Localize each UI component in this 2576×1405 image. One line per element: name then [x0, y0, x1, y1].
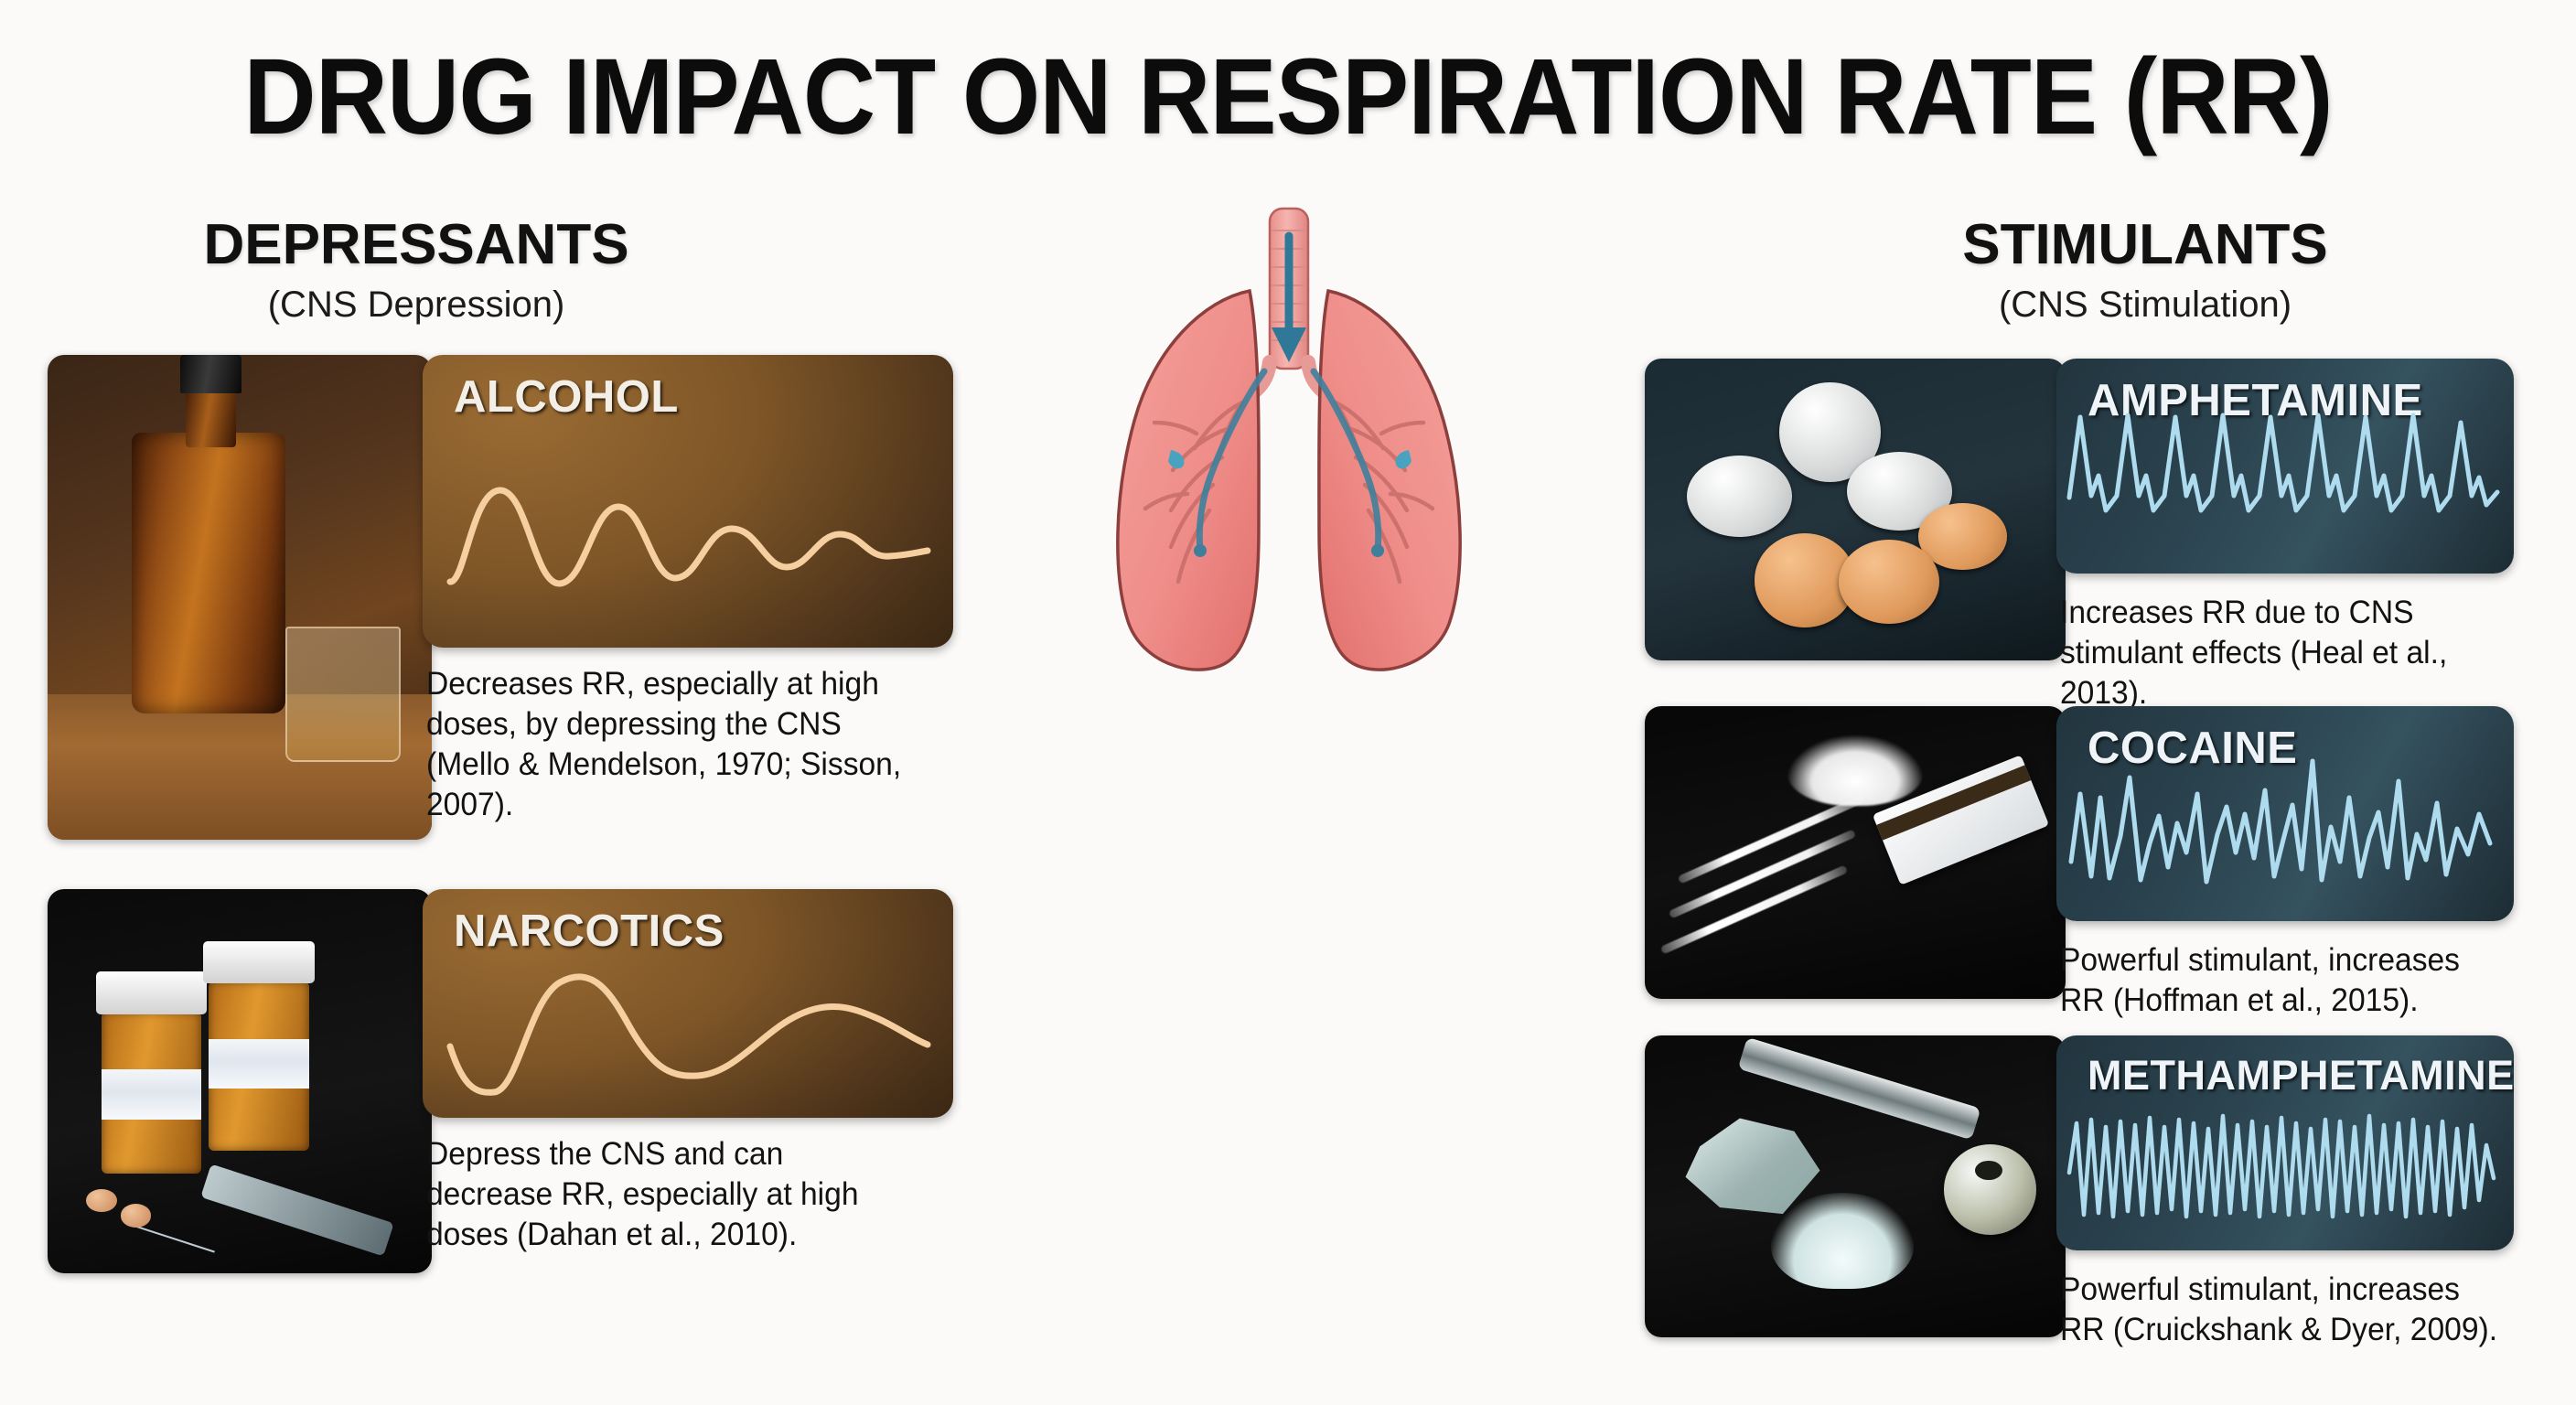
alcohol-waveform-panel: ALCOHOL — [423, 355, 953, 648]
alcohol-photo — [48, 355, 432, 840]
depressants-subheading: (CNS Depression) — [55, 284, 778, 326]
stimulants-heading: STIMULANTS — [1784, 212, 2506, 277]
cocaine-waveform — [2056, 706, 2514, 921]
page-title: DRUG IMPACT ON RESPIRATION RATE (RR) — [91, 35, 2486, 159]
lungs-illustration — [1034, 183, 1583, 695]
stimulants-subheading: (CNS Stimulation) — [1784, 284, 2506, 326]
methamphetamine-waveform-panel: METHAMPHETAMINE — [2056, 1035, 2514, 1250]
depressants-heading: DEPRESSANTS — [55, 212, 778, 277]
alcohol-waveform — [423, 355, 953, 648]
cocaine-photo — [1645, 706, 2066, 999]
narcotics-waveform-panel: NARCOTICS — [423, 889, 953, 1118]
alcohol-description: Decreases RR, especially at high doses, … — [426, 664, 918, 825]
amphetamine-photo — [1645, 359, 2066, 660]
amphetamine-waveform — [2056, 359, 2514, 574]
narcotics-photo — [48, 889, 432, 1273]
column-header-depressants: DEPRESSANTS (CNS Depression) — [55, 212, 778, 326]
amphetamine-waveform-panel: AMPHETAMINE — [2056, 359, 2514, 574]
methamphetamine-description: Powerful stimulant, increases RR (Cruick… — [2060, 1270, 2499, 1350]
methamphetamine-photo — [1645, 1035, 2066, 1337]
infographic-canvas: DRUG IMPACT ON RESPIRATION RATE (RR) DEP… — [0, 0, 2576, 1405]
narcotics-description: Depress the CNS and can decrease RR, esp… — [426, 1134, 918, 1255]
cocaine-description: Powerful stimulant, increases RR (Hoffma… — [2060, 940, 2499, 1021]
column-header-stimulants: STIMULANTS (CNS Stimulation) — [1784, 212, 2506, 326]
methamphetamine-waveform — [2056, 1035, 2514, 1250]
cocaine-waveform-panel: COCAINE — [2056, 706, 2514, 921]
amphetamine-description: Increases RR due to CNS stimulant effect… — [2060, 593, 2499, 713]
narcotics-waveform — [423, 889, 953, 1118]
